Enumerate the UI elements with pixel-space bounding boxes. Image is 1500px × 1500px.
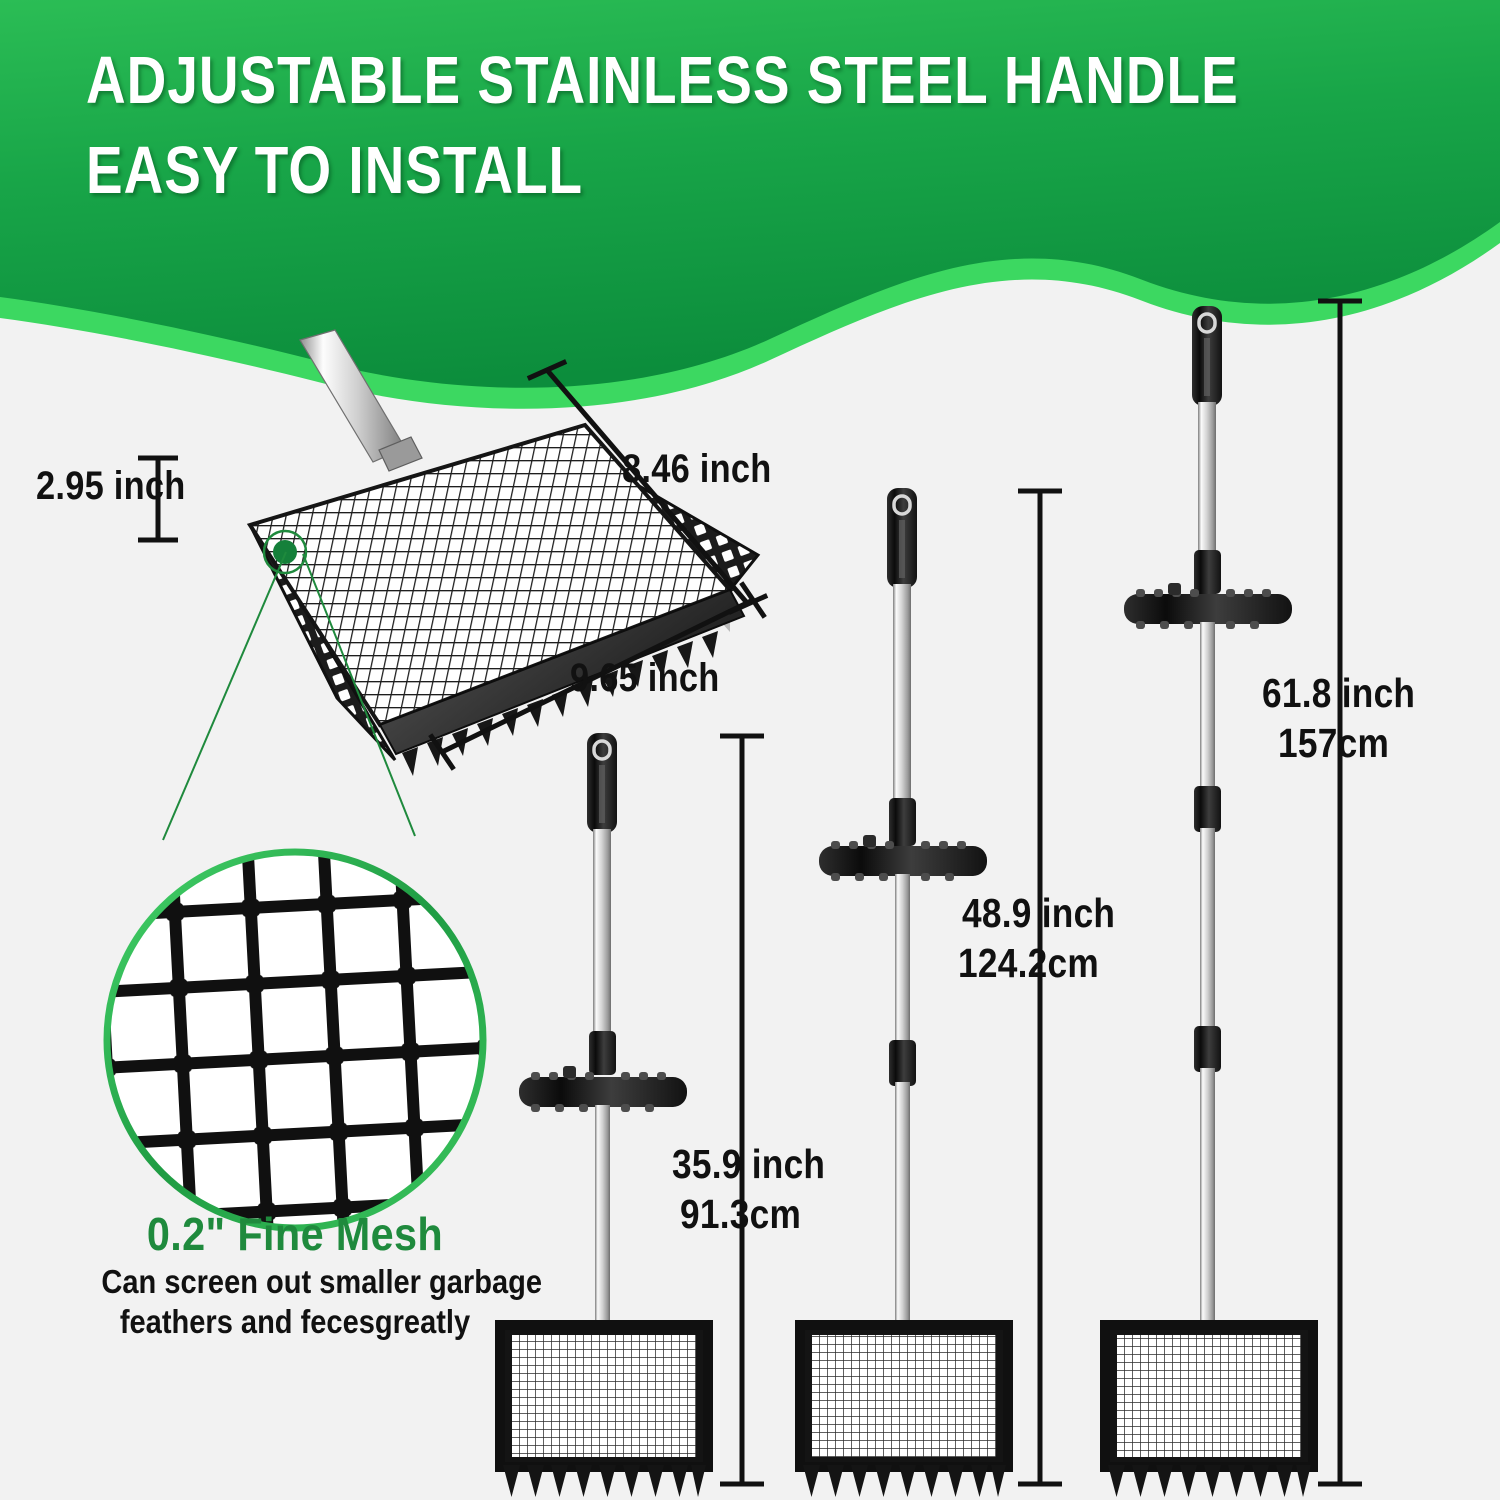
rake-tall-upper-pole: [1198, 402, 1216, 574]
scoop-dim-width-label: 8.46 inch: [622, 446, 772, 492]
rake-medium-collar-2: [889, 1040, 916, 1086]
rake-short-basket: [500, 1321, 708, 1497]
infographic-canvas: ADJUSTABLE STAINLESS STEEL HANDLE EASY T…: [0, 0, 1500, 1500]
mesh-magnifier: [95, 840, 495, 1240]
rake-medium-inch-label: 48.9 inch: [962, 888, 1115, 938]
rake-short-collar: [589, 1031, 616, 1075]
rake-tall: [1100, 298, 1340, 1500]
rake-tall-collar-3: [1194, 1026, 1221, 1072]
rake-short-cm-label: 91.3cm: [680, 1189, 801, 1239]
rake-medium-upper-pole: [893, 584, 911, 822]
rake-tall-collar: [1194, 550, 1221, 594]
rake-medium-basket: [800, 1321, 1008, 1497]
mesh-subtitle-line-1: Can screen out smaller garbage: [101, 1262, 488, 1302]
rake-tall-collar-2: [1194, 786, 1221, 832]
rake-tall-cm-label: 157cm: [1278, 718, 1389, 768]
rake-tall-grip: [1192, 306, 1222, 406]
rake-medium: [795, 480, 1035, 1500]
rake-short: [495, 725, 735, 1500]
scoop-dim-length-label: 9.65 inch: [570, 655, 720, 701]
rake-medium-lower-pole: [895, 1082, 910, 1327]
rake-short-upper-pole: [593, 829, 611, 1049]
scoop-handle-tube: [300, 330, 422, 471]
scoop-dim-depth-label: 2.95 inch: [36, 463, 186, 509]
rake-medium-collar: [889, 798, 916, 846]
rake-short-lower-pole: [595, 1105, 610, 1325]
mesh-subtitle-line-2: feathers and fecesgreatly: [101, 1302, 488, 1342]
mesh-title: 0.2" Fine Mesh: [115, 1208, 475, 1260]
dimension-line-short: [712, 730, 772, 1490]
rake-short-grip: [587, 733, 617, 833]
rake-medium-cm-label: 124.2cm: [958, 938, 1099, 988]
rake-tall-lower-pole: [1200, 1068, 1215, 1330]
dimension-line-tall: [1310, 295, 1370, 1490]
rake-tall-basket: [1105, 1321, 1313, 1497]
rake-medium-grip: [887, 488, 917, 588]
rake-tall-inch-label: 61.8 inch: [1262, 668, 1415, 718]
rake-tall-pole-3: [1200, 828, 1215, 1043]
